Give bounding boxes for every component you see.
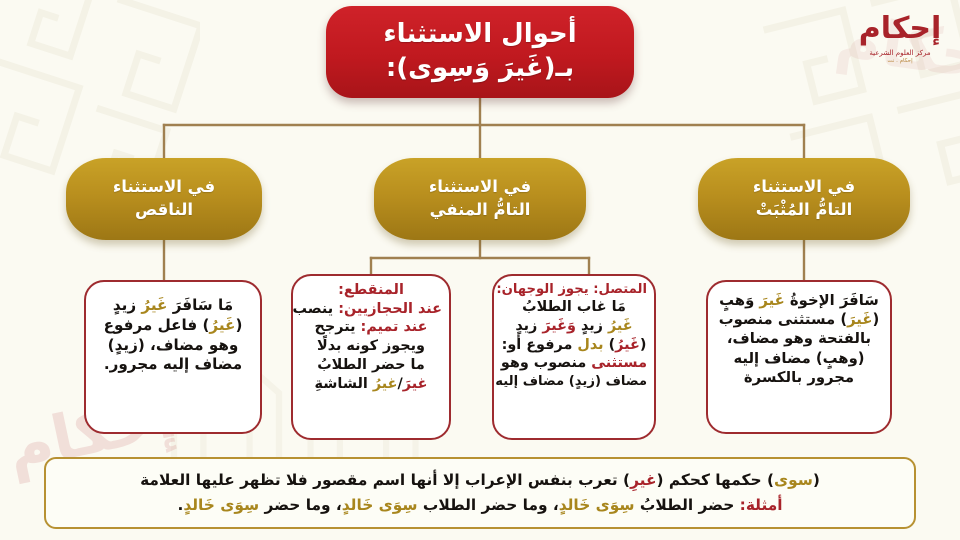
text-span: (وهبٍ) مضاف إليه	[733, 350, 864, 367]
text-line: سَافَرَ الإخوةُ غَيرَ وَهبٍ	[715, 291, 883, 310]
text-line: وهو مضاف، (زيدٍ)	[93, 336, 253, 356]
branch-pill-muthbat-line2: التامُّ المُثْبَتْ	[756, 199, 852, 222]
detail-card-muttasil: المتصل: يجوز الوجهان:مَا غاب الطلابُغَير…	[492, 274, 656, 440]
text-span: مضاف إليه مجرور.	[104, 355, 242, 373]
branch-pill-muthbat-line1: في الاستثناء	[753, 176, 855, 199]
text-span: وَغَيرَ	[542, 318, 576, 334]
text-span: مستثنى	[591, 355, 647, 371]
text-line: (وهبٍ) مضاف إليه	[715, 349, 883, 368]
text-line: مستثنى منصوب وهو	[501, 354, 647, 373]
branch-pill-naqis-line1: في الاستثناء	[113, 176, 215, 199]
text-span: ، وما حضر	[259, 496, 342, 514]
text-span: بدل	[577, 337, 603, 353]
text-line: ما حضر الطلابُ	[300, 356, 442, 375]
text-span: مرفوع أو:	[502, 337, 578, 353]
text-span: منصوب وهو	[501, 355, 591, 371]
brand-logo: إحكام مركز العلوم الشرعية إحكام . نت	[852, 14, 948, 94]
text-span: ) مستثنى منصوب	[719, 311, 847, 328]
branch-pill-naqis[interactable]: في الاستثناء الناقص	[66, 158, 262, 240]
root-title-line1: أحوال الاستثناء	[383, 18, 576, 52]
text-line: مجرور بالكسرة	[715, 368, 883, 387]
text-span: سِوَى خَالدٍ	[183, 496, 259, 514]
text-span: مَا سَافَرَ	[167, 296, 233, 314]
text-line: بالفتحة وهو مضاف،	[715, 329, 883, 348]
branch-pill-naqis-line2: الناقص	[135, 199, 193, 222]
text-line: (غَيرُ) فاعل مرفوع	[93, 316, 253, 336]
text-line: مضاف (زيدٍ) مضاف إليه	[501, 373, 647, 390]
text-span: (	[813, 471, 820, 489]
text-span: عند الحجازيين:	[338, 301, 442, 317]
root-title-line2: بـ(غَيرَ وَسِوى):	[386, 52, 574, 86]
text-span: سَافَرَ الإخوةُ	[785, 292, 879, 309]
detail-card-munqati: المنقطع:عند الحجازيين: ينصبعند تميم: يتر…	[291, 274, 451, 440]
brand-logo-word: إحكام	[859, 14, 942, 44]
footer-note-banner: (سوى) حكمها كحكم (غيرِ) تعرب بنفس الإعرا…	[44, 457, 916, 529]
text-line: (سوى) حكمها كحكم (غيرِ) تعرب بنفس الإعرا…	[140, 471, 820, 490]
text-line: غيرَ/غيرُ الشاشةِ	[300, 375, 442, 394]
branch-pill-manfi[interactable]: في الاستثناء التامُّ المنفي	[374, 158, 586, 240]
text-span: وهو مضاف، (زيدٍ)	[108, 336, 239, 354]
text-line: عند تميم: يترجح	[300, 318, 442, 337]
text-span: غيرَ	[403, 376, 428, 392]
text-span: (	[235, 316, 242, 334]
text-span: مَا غاب الطلابُ	[522, 299, 626, 315]
text-span: ) فاعل مرفوع	[104, 316, 210, 334]
branch-pill-muthbat[interactable]: في الاستثناء التامُّ المُثْبَتْ	[698, 158, 910, 240]
text-span: غَيرُ	[141, 296, 167, 314]
text-span: مضاف (زيدٍ) مضاف إليه	[495, 374, 647, 389]
text-line: المنقطع:	[300, 281, 442, 300]
text-span: ) تعرب بنفس الإعراب إلا أنها اسم مقصور ف…	[140, 471, 630, 489]
root-title-card: أحوال الاستثناء بـ(غَيرَ وَسِوى):	[326, 6, 634, 98]
text-span: زيدٍ	[576, 318, 608, 334]
text-span: )	[604, 337, 616, 353]
text-span: (	[872, 311, 879, 328]
text-span: الشاشةِ	[315, 376, 373, 392]
text-span: زيدٍ	[113, 296, 142, 314]
branch-pill-manfi-line2: التامُّ المنفي	[430, 199, 531, 222]
diagram-canvas: أحوال الاستثناء بـ(غَيرَ وَسِوى): في الا…	[0, 0, 960, 540]
text-line: المتصل: يجوز الوجهان:	[501, 281, 647, 298]
text-span: غَيرُ	[615, 337, 640, 353]
text-line: أمثلة: حضر الطلابُ سِوَى خَالدٍ، وما حضر…	[177, 496, 782, 515]
text-line: غَيرُ زيدٍ وَغَيرَ زيدٍ	[501, 317, 647, 336]
detail-card-naqis: مَا سَافَرَ غَيرُ زيدٍ(غَيرُ) فاعل مرفوع…	[84, 280, 262, 434]
branch-pill-manfi-line1: في الاستثناء	[429, 176, 531, 199]
text-span: (	[640, 337, 647, 353]
text-span: غيرُ	[373, 376, 398, 392]
text-line: مضاف إليه مجرور.	[93, 355, 253, 375]
text-span: سوى	[774, 471, 813, 489]
text-span: زيدٍ	[515, 318, 542, 334]
text-span: غيرِ	[630, 471, 656, 489]
text-line: مَا سَافَرَ غَيرُ زيدٍ	[93, 296, 253, 316]
text-span: يترجح	[315, 319, 361, 335]
text-span: سِوَى خَالدٍ	[342, 496, 418, 514]
brand-logo-subtitle2: إحكام . نت	[887, 58, 912, 65]
text-span: أمثلة:	[740, 496, 783, 514]
text-line: مَا غاب الطلابُ	[501, 298, 647, 317]
text-span: غَيرُ	[209, 316, 235, 334]
text-line: عند الحجازيين: ينصب	[300, 300, 442, 319]
text-span: بالفتحة وهو مضاف،	[727, 330, 871, 347]
text-span: عند تميم:	[360, 319, 427, 335]
text-span: وَهبٍ	[719, 292, 759, 309]
text-span: المنقطع:	[338, 282, 404, 298]
text-span: ينصب	[293, 301, 339, 317]
text-span: ويجوز كونه بدلًا	[317, 338, 425, 354]
text-line: (غَيرُ) بدل مرفوع أو:	[501, 336, 647, 355]
text-span: ) حكمها كحكم (	[656, 471, 774, 489]
text-span: غَيرَ	[759, 292, 784, 309]
text-line: ويجوز كونه بدلًا	[300, 337, 442, 356]
text-span: سِوَى خَالدٍ	[559, 496, 635, 514]
text-span: غَيرَ	[847, 311, 872, 328]
text-line: (غَيرَ) مستثنى منصوب	[715, 310, 883, 329]
text-span: المتصل:	[593, 282, 647, 297]
text-span: يجوز الوجهان:	[496, 282, 593, 297]
text-span: ما حضر الطلابُ	[317, 357, 425, 373]
text-span: غَيرُ	[608, 318, 633, 334]
text-span: حضر الطلابُ	[635, 496, 740, 514]
detail-card-muthbat: سَافَرَ الإخوةُ غَيرَ وَهبٍ(غَيرَ) مستثن…	[706, 280, 892, 434]
text-span: مجرور بالكسرة	[744, 369, 854, 386]
text-span: ، وما حضر الطلاب	[418, 496, 559, 514]
